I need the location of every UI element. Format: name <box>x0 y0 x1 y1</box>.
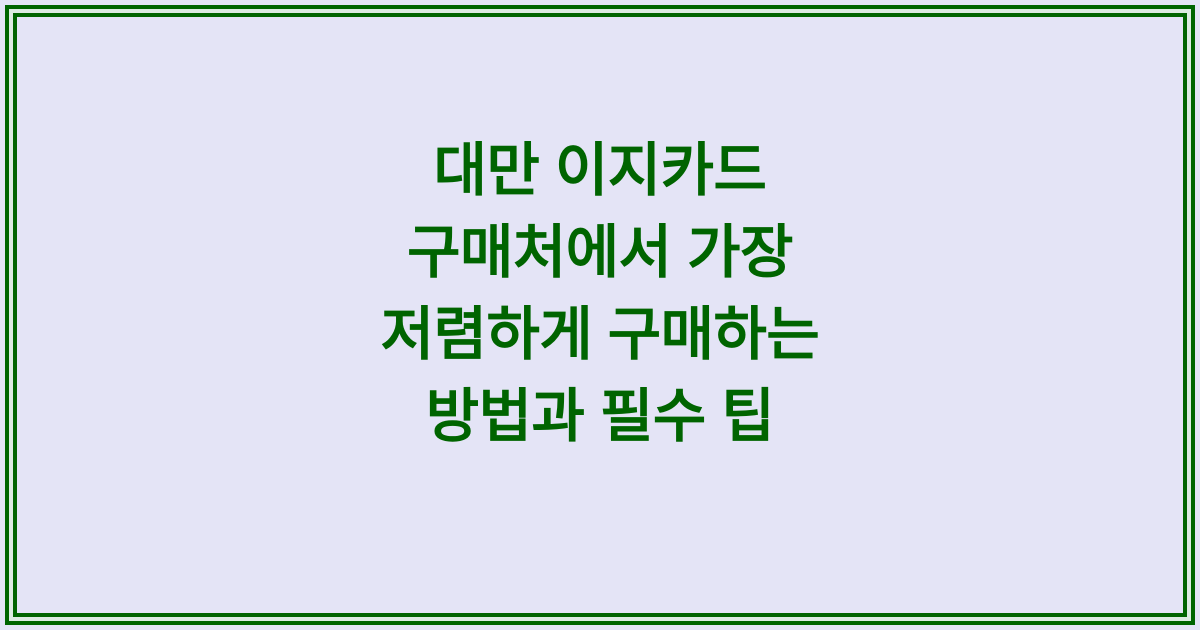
inner-border-frame: 대만 이지카드 구매처에서 가장 저렴하게 구매하는 방법과 필수 팁 <box>13 13 1187 617</box>
thumbnail-card: 대만 이지카드 구매처에서 가장 저렴하게 구매하는 방법과 필수 팁 <box>0 0 1200 630</box>
outer-border-frame: 대만 이지카드 구매처에서 가장 저렴하게 구매하는 방법과 필수 팁 <box>5 5 1195 625</box>
page-title: 대만 이지카드 구매처에서 가장 저렴하게 구매하는 방법과 필수 팁 <box>300 130 900 458</box>
title-block: 대만 이지카드 구매처에서 가장 저렴하게 구매하는 방법과 필수 팁 <box>300 130 900 500</box>
